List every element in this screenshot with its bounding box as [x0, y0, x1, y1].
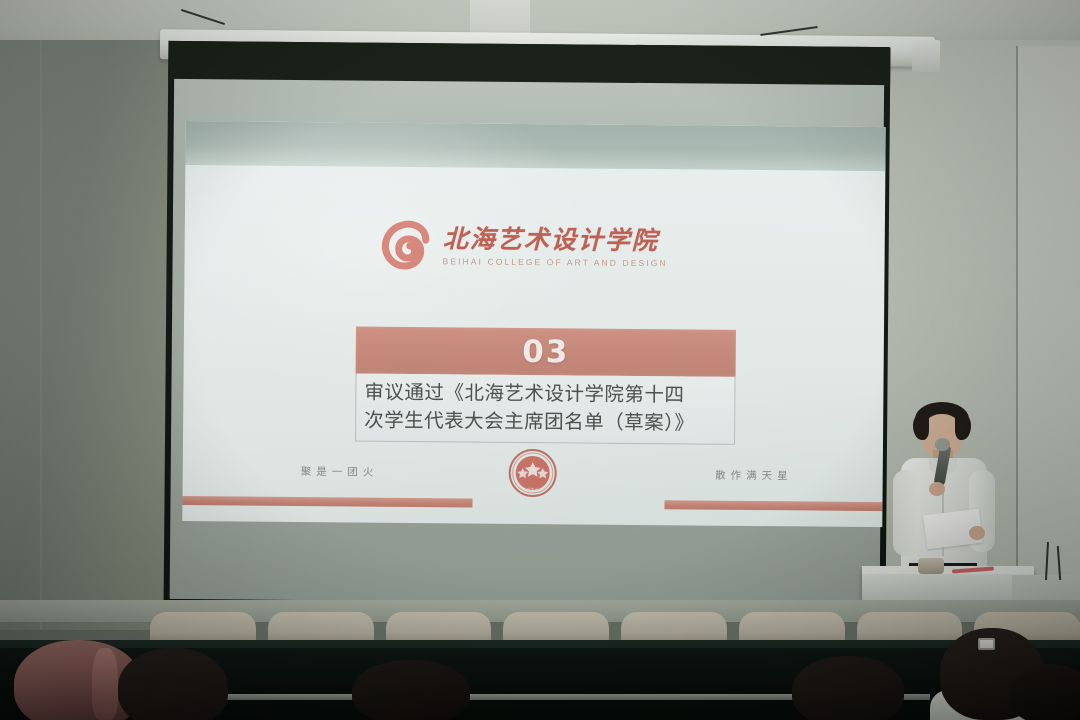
student-union-emblem-icon: 学生会	[508, 448, 558, 498]
headline-title-box: 审议通过《北海艺术设计学院第十四 次学生代表大会主席团名单（草案）》	[355, 374, 736, 446]
presenter-hair-right	[955, 414, 971, 440]
screen-fabric: 北海艺术设计学院 BEIHAI COLLEGE OF ART AND DESIG…	[170, 79, 885, 605]
chair	[268, 612, 374, 642]
audience-head	[792, 656, 904, 720]
audience-head	[1010, 664, 1080, 720]
podium-object	[918, 558, 944, 574]
right-wall-edge	[1016, 46, 1018, 606]
slide-top-shadow-band	[185, 121, 885, 171]
motto-left: 聚是一团火	[301, 464, 379, 480]
left-wall	[0, 40, 172, 630]
presenter-left-arm	[893, 470, 919, 556]
right-wall-panel	[1018, 46, 1080, 606]
chair	[386, 612, 492, 642]
logo-english-name: BEIHAI COLLEGE OF ART AND DESIGN	[443, 256, 668, 268]
chair	[739, 612, 845, 642]
chair	[150, 612, 256, 642]
headline-number-bar: 03	[356, 327, 736, 377]
roller-end-cap	[912, 40, 940, 72]
presenter-hand-on-paper	[969, 526, 985, 540]
chair	[621, 612, 727, 642]
photo-scene: 北海艺术设计学院 BEIHAI COLLEGE OF ART AND DESIG…	[0, 0, 1080, 720]
presenter-hair-left	[913, 414, 929, 440]
hair-clip	[978, 638, 995, 650]
logo-chinese-name: 北海艺术设计学院	[443, 227, 668, 255]
audience-hair-strand	[92, 648, 118, 720]
institution-logo: 北海艺术设计学院 BEIHAI COLLEGE OF ART AND DESIG…	[380, 215, 721, 280]
microphone-head	[935, 438, 950, 451]
presenter-hand-on-mic	[929, 482, 945, 496]
footer-bar-left	[182, 496, 472, 508]
logo-wordmark: 北海艺术设计学院 BEIHAI COLLEGE OF ART AND DESIG…	[443, 227, 668, 268]
podium-tabletop	[862, 566, 1034, 574]
left-wall-panel-seam	[40, 40, 42, 630]
headline-line-1: 审议通过《北海艺术设计学院第十四	[364, 379, 726, 410]
audience-head	[118, 648, 228, 720]
audience-head	[352, 660, 470, 720]
motto-right: 散作满天星	[715, 468, 793, 484]
projection-screen: 北海艺术设计学院 BEIHAI COLLEGE OF ART AND DESIG…	[164, 41, 891, 613]
chair	[503, 612, 609, 642]
projected-slide: 北海艺术设计学院 BEIHAI COLLEGE OF ART AND DESIG…	[182, 121, 885, 527]
headline-line-2: 次学生代表大会主席团名单（草案）》	[364, 406, 726, 437]
beihai-spiral-logo-icon	[380, 220, 432, 272]
footer-bar-right	[664, 500, 882, 511]
svg-text:学生会: 学生会	[527, 486, 539, 492]
slide-headline-block: 03 审议通过《北海艺术设计学院第十四 次学生代表大会主席团名单（草案）》	[355, 327, 736, 446]
slide-footer: 聚是一团火 学生会 散作满天星	[182, 443, 883, 527]
agenda-number: 03	[522, 333, 569, 369]
chair	[857, 612, 963, 642]
